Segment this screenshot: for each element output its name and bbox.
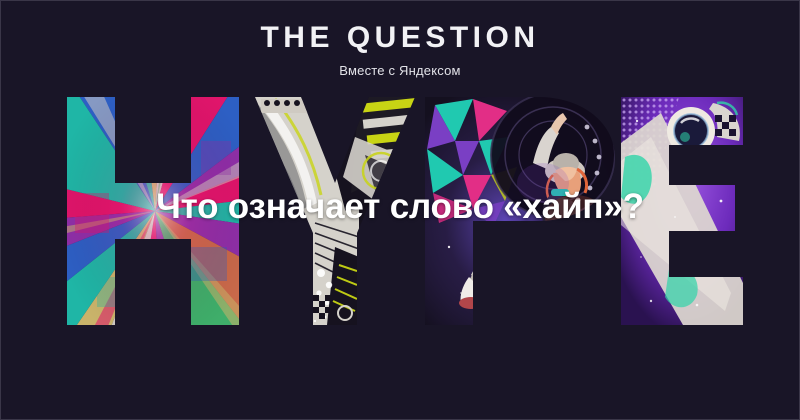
brand-title: THE QUESTION [1, 23, 799, 53]
headline-text: Что означает слово «хайп»? [156, 189, 644, 224]
brand-subtitle: Вместе с Яндексом [1, 63, 799, 78]
brand-header: THE QUESTION Вместе с Яндексом [1, 23, 799, 78]
headline: Что означает слово «хайп»? [1, 189, 799, 224]
poster-canvas: THE QUESTION Вместе с Яндексом [0, 0, 800, 420]
